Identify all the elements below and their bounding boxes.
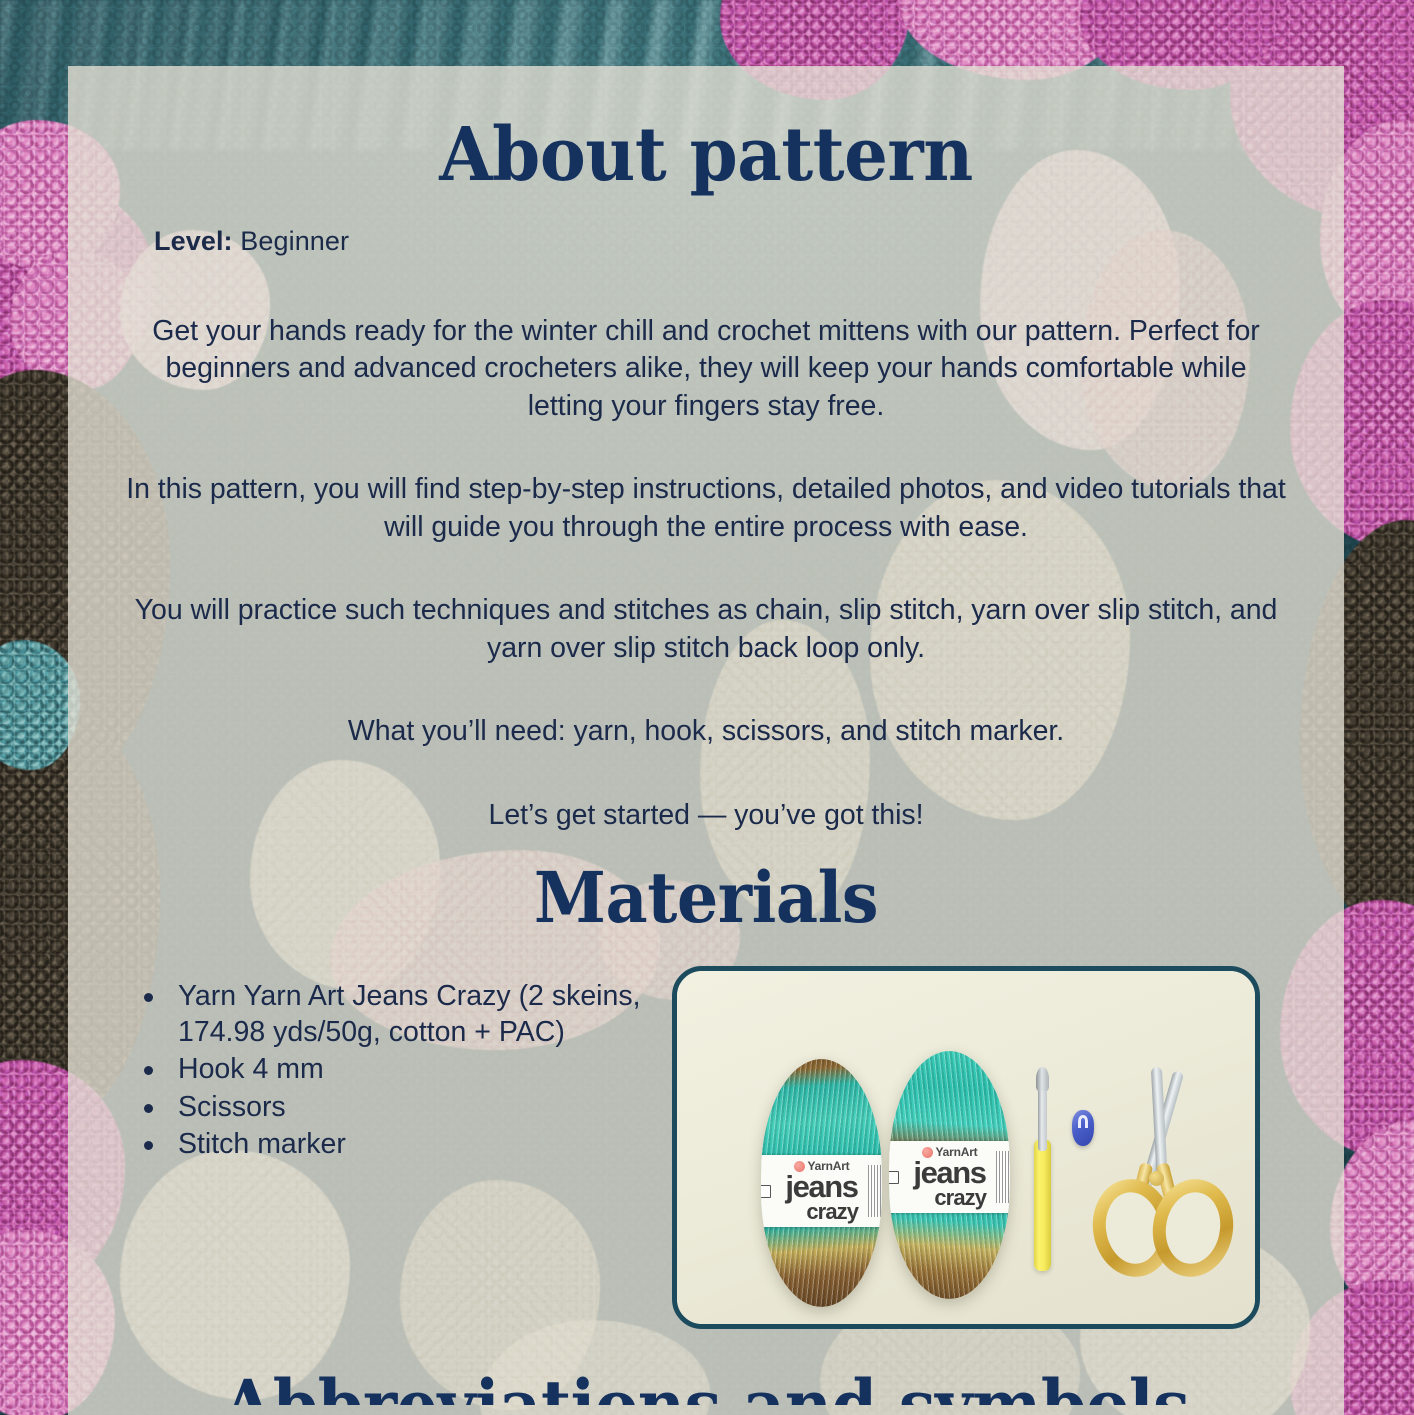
list-item: Scissors <box>136 1089 644 1125</box>
level-label: Level: <box>154 226 233 256</box>
level-value: Beginner <box>240 226 349 256</box>
list-item: Stitch marker <box>136 1126 644 1162</box>
yarn-weight-icon <box>761 1185 771 1198</box>
product-name: jeans <box>913 1159 985 1188</box>
hook-handle <box>1034 1139 1051 1271</box>
materials-section: Yarn Yarn Art Jeans Crazy (2 skeins, 174… <box>114 966 1298 1329</box>
yarn-label: YarnArt jeans crazy <box>761 1155 882 1227</box>
label-fineprint <box>996 1151 1009 1203</box>
content-card: About pattern Level: Beginner Get your h… <box>68 66 1344 1415</box>
yarn-weight-icon <box>889 1171 899 1184</box>
materials-title: Materials <box>155 860 1256 936</box>
encouragement-paragraph: Let’s get started — you’ve got this! <box>196 797 1216 834</box>
intro-paragraph: Get your hands ready for the winter chil… <box>136 313 1276 425</box>
list-item: Hook 4 mm <box>136 1051 644 1087</box>
materials-list: Yarn Yarn Art Jeans Crazy (2 skeins, 174… <box>114 978 644 1164</box>
page-title: About pattern <box>155 116 1256 196</box>
materials-photo: YarnArt jeans crazy YarnArt <box>672 966 1260 1329</box>
crochet-hook-icon <box>1034 1071 1051 1271</box>
hook-tip <box>1036 1067 1049 1091</box>
supplies-paragraph: What you’ll need: yarn, hook, scissors, … <box>196 713 1216 750</box>
scissor-pivot <box>1149 1171 1164 1186</box>
product-sub: crazy <box>934 1188 986 1209</box>
yarn-label: YarnArt jeans crazy <box>889 1141 1010 1213</box>
label-fineprint <box>868 1165 881 1217</box>
techniques-paragraph: You will practice such techniques and st… <box>131 592 1281 667</box>
product-name: jeans <box>785 1173 857 1202</box>
yarn-skein: YarnArt jeans crazy <box>761 1059 882 1307</box>
scissors-icon <box>1083 1067 1253 1297</box>
list-item: Yarn Yarn Art Jeans Crazy (2 skeins, 174… <box>136 978 644 1051</box>
next-section-title: Abbreviations and symbols <box>155 1369 1256 1405</box>
product-sub: crazy <box>806 1202 858 1223</box>
level-line: Level: Beginner <box>154 226 1298 257</box>
contents-paragraph: In this pattern, you will find step-by-s… <box>124 471 1289 546</box>
photo-backdrop: YarnArt jeans crazy YarnArt <box>677 971 1255 1324</box>
yarn-skein: YarnArt jeans crazy <box>889 1051 1010 1299</box>
